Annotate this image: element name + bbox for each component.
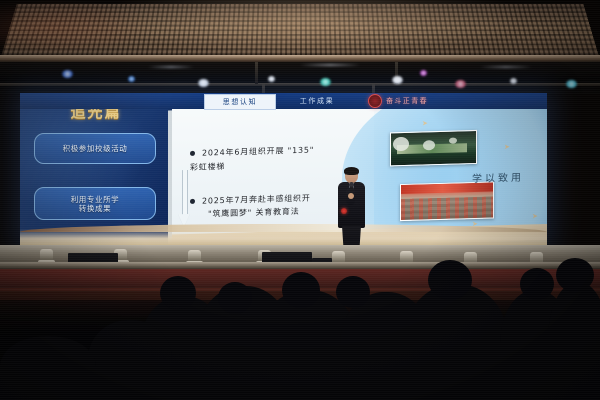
auditorium-scene: 追光篇 积极参加校级活动 利用专业所学 转换成果 2024年6月: [0, 0, 600, 400]
stage-light-blue: [62, 70, 73, 78]
slide-bullet-1-line1: 2024年6月组织开展 "135": [202, 145, 314, 157]
stage-light-cyan: [566, 80, 577, 88]
audience-head: [428, 260, 472, 300]
slide-bullet-1-line2: 彩虹楼梯: [190, 161, 225, 173]
audience-silhouette: [0, 336, 96, 400]
audience-head: [556, 258, 594, 292]
slide-bullet-1: 2024年6月组织开展 "135": [202, 144, 314, 159]
slide-bullet-2-line1: 2025年7月奔赴丰感组织开: [202, 194, 311, 206]
slide-photo-night-landscape: [390, 130, 477, 166]
slide-bullet-2-line2: "筑鹰圆梦" 关育教育法: [208, 206, 300, 220]
ceiling-light-glow: [0, 0, 600, 60]
slide-photo-red-banner-crowd: [400, 181, 494, 221]
slide-logo-badge: 奋斗正青春: [368, 94, 480, 108]
tab-work-achievements-label: 工作成果: [300, 96, 334, 106]
truss-leg: [255, 62, 258, 84]
stage-light-white: [392, 76, 403, 84]
presenter-badge: [341, 208, 347, 214]
stage-light-pink: [455, 80, 466, 88]
tab-ideological-cognition-label: 思想认知: [223, 97, 257, 107]
audience-silhouette: [404, 284, 508, 400]
audience-silhouette: [548, 282, 600, 400]
audience-head: [160, 276, 196, 310]
stage-light-white: [198, 79, 209, 87]
bird-icon: ➤: [422, 119, 428, 127]
stage-light-blue: [128, 76, 135, 82]
slide-pill-activity-label: 积极参加校级活动: [63, 144, 128, 153]
audience-head: [282, 272, 320, 308]
slide-pill-outcome-label1: 利用专业所学: [71, 195, 120, 204]
lighting-truss-bar: [0, 83, 600, 86]
bird-icon: ➤: [504, 143, 510, 151]
projection-screen: 追光篇 积极参加校级活动 利用专业所学 转换成果 2024年6月: [20, 93, 547, 245]
slide-bottom-curve: [20, 229, 547, 245]
slide-slogan: 学以致用: [472, 169, 524, 185]
bird-icon: ➤: [532, 212, 538, 220]
slide-pill-outcome-label2: 转换成果: [79, 204, 111, 213]
ceiling-edge-trim: [0, 55, 600, 62]
stage-light-white: [268, 76, 275, 82]
bullet-dot-icon: [190, 151, 195, 156]
tab-ideological-cognition[interactable]: 思想认知: [204, 94, 276, 110]
stage-front-rail: [0, 262, 600, 269]
slide-tab-bar: 思想认知 工作成果 奋斗正青春: [20, 93, 547, 109]
down-arrow-icon: [178, 170, 190, 230]
light-streak: [300, 64, 360, 66]
audience-head: [218, 282, 252, 314]
presenter-hand: [348, 193, 354, 199]
slide-pill-outcome: 利用专业所学 转换成果: [34, 187, 156, 220]
slide-pill-activity: 积极参加校级活动: [34, 133, 156, 164]
light-streak: [148, 66, 194, 68]
stage-light-cyan: [320, 78, 331, 86]
slide-logo-text: 奋斗正青春: [386, 96, 428, 106]
circular-emblem-icon: [368, 94, 382, 108]
stage-light-magenta: [420, 70, 427, 76]
stage-light-white: [510, 78, 517, 84]
audience-head: [336, 276, 370, 308]
tab-work-achievements[interactable]: 工作成果: [286, 94, 348, 108]
bullet-dot-icon: [190, 199, 195, 204]
audience-silhouette: [88, 320, 172, 400]
audience-head: [520, 268, 554, 300]
light-streak: [480, 66, 532, 68]
presenter-hair: [344, 167, 359, 175]
